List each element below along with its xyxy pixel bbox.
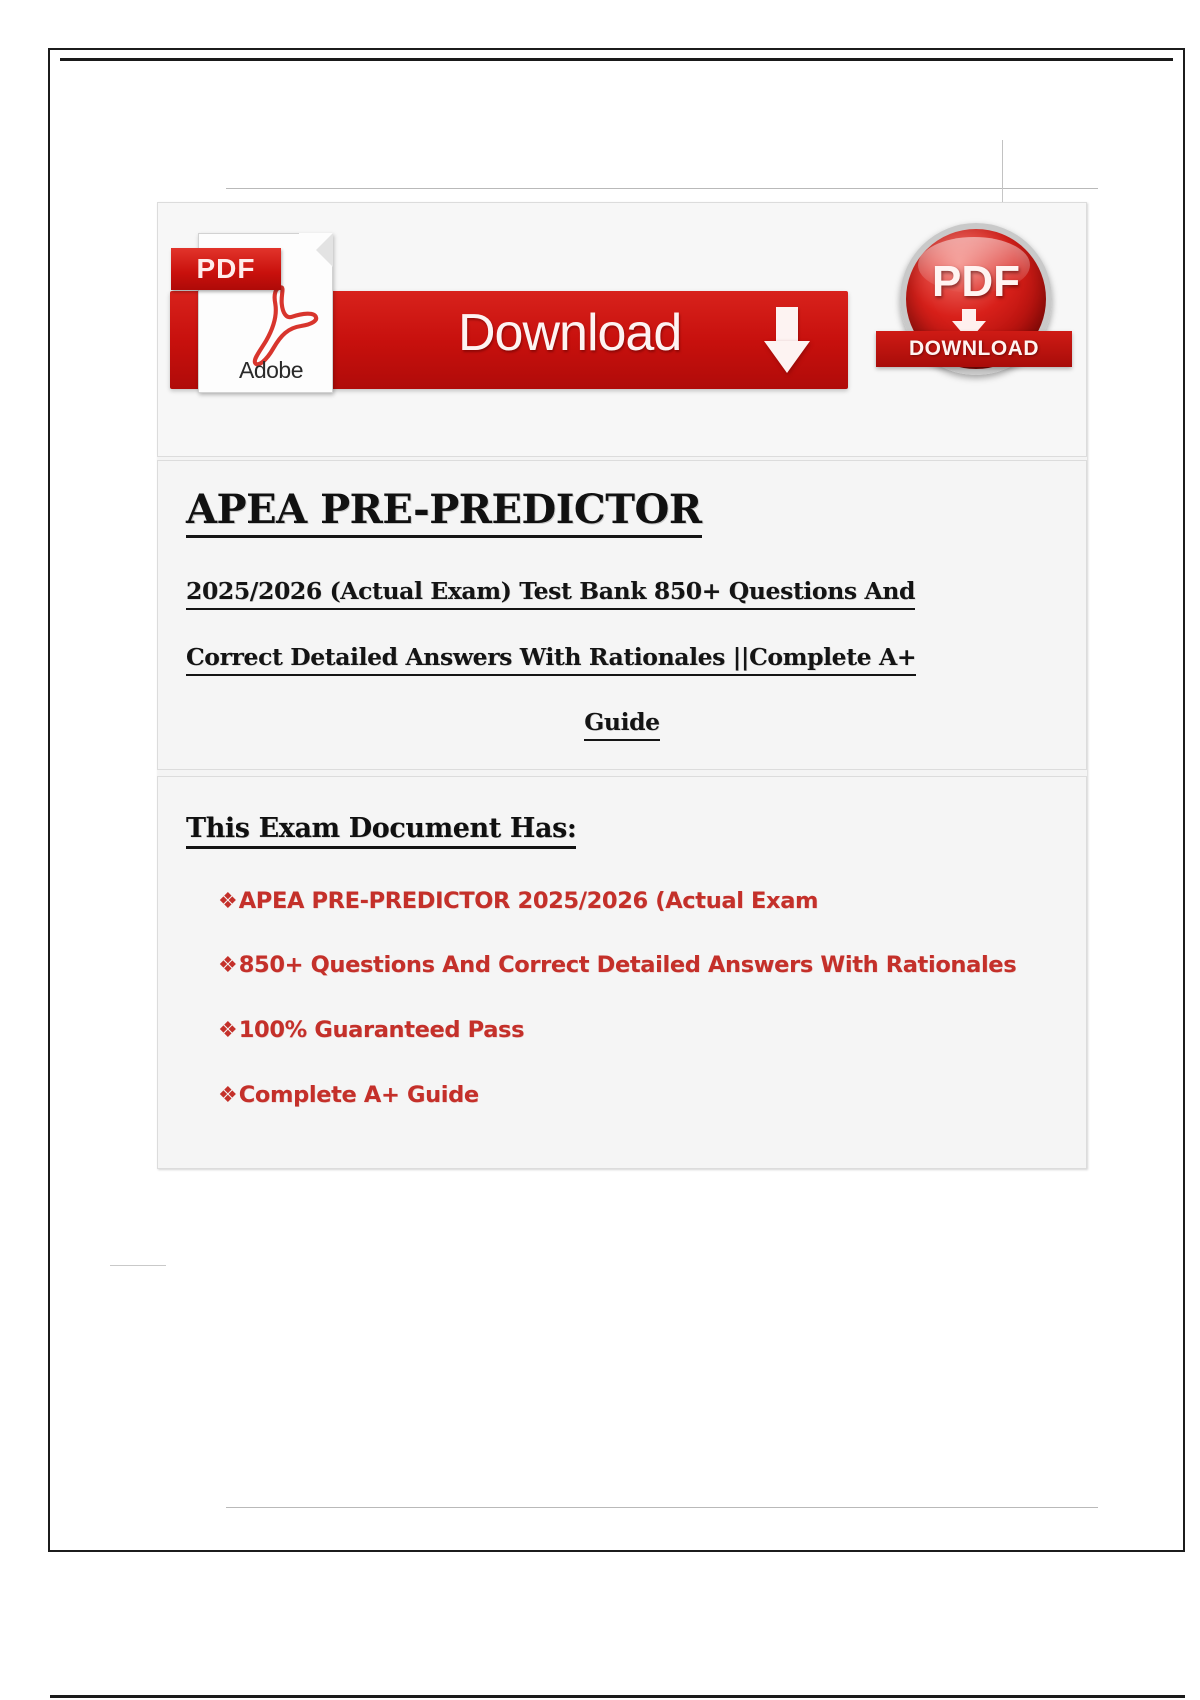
subtitle-line-1: 2025/2026 (Actual Exam) Test Bank 850+ Q… [186, 580, 1058, 604]
page-fold-highlight [299, 233, 333, 267]
page-bottom-rule [50, 1695, 1185, 1698]
diamond-bullet-icon: ❖ [218, 1020, 238, 1042]
download-label: Download [458, 303, 681, 363]
section-heading: This Exam Document Has: [186, 813, 576, 849]
doc-grid-rule-bottom [226, 1507, 1098, 1508]
doc-grid-tick-vertical [1002, 140, 1003, 192]
list-item-label: 100% Guaranteed Pass [239, 1018, 524, 1043]
contents-panel: This Exam Document Has: ❖ APEA PRE-PREDI… [157, 776, 1087, 1169]
subtitle-line-2-text: Correct Detailed Answers With Rationales… [186, 643, 916, 676]
pdf-download-badge[interactable]: PDF DOWNLOAD [894, 221, 1064, 391]
list-item-label: 850+ Questions And Correct Detailed Answ… [239, 953, 1017, 978]
subtitle-line-1-text: 2025/2026 (Actual Exam) Test Bank 850+ Q… [186, 577, 915, 610]
doc-grid-tick-left [110, 1265, 166, 1266]
subtitle-line-3: Guide [186, 711, 1058, 735]
list-item-label: APEA PRE-PREDICTOR 2025/2026 (Actual Exa… [239, 889, 818, 914]
document-card: Download Adobe PDF [157, 202, 1087, 1169]
list-item-label: Complete A+ Guide [239, 1083, 479, 1108]
page-top-rule [60, 58, 1173, 61]
title-panel: APEA PRE-PREDICTOR 2025/2026 (Actual Exa… [157, 460, 1087, 770]
list-item: ❖ Complete A+ Guide [186, 1083, 1058, 1108]
adobe-pdf-file-icon: Adobe PDF [198, 233, 333, 393]
badge-download-ribbon: DOWNLOAD [876, 331, 1072, 367]
diamond-bullet-icon: ❖ [218, 955, 238, 977]
badge-pdf-label: PDF [894, 257, 1058, 307]
adobe-brand-label: Adobe [239, 357, 303, 384]
page-title: APEA PRE-PREDICTOR [186, 487, 702, 538]
list-item: ❖ 100% Guaranteed Pass [186, 1018, 1058, 1043]
download-banner-panel: Download Adobe PDF [157, 202, 1087, 457]
subtitle-line-2: Correct Detailed Answers With Rationales… [186, 646, 1058, 670]
list-item: ❖ APEA PRE-PREDICTOR 2025/2026 (Actual E… [186, 889, 1058, 914]
scanned-page-sheet: Download Adobe PDF [48, 48, 1185, 1552]
pdf-tag-label: PDF [171, 248, 281, 290]
diamond-bullet-icon: ❖ [218, 1085, 238, 1107]
diamond-bullet-icon: ❖ [218, 891, 238, 913]
list-item: ❖ 850+ Questions And Correct Detailed An… [186, 953, 1058, 978]
doc-grid-rule-top [226, 188, 1098, 189]
subtitle-line-3-text: Guide [584, 708, 659, 741]
